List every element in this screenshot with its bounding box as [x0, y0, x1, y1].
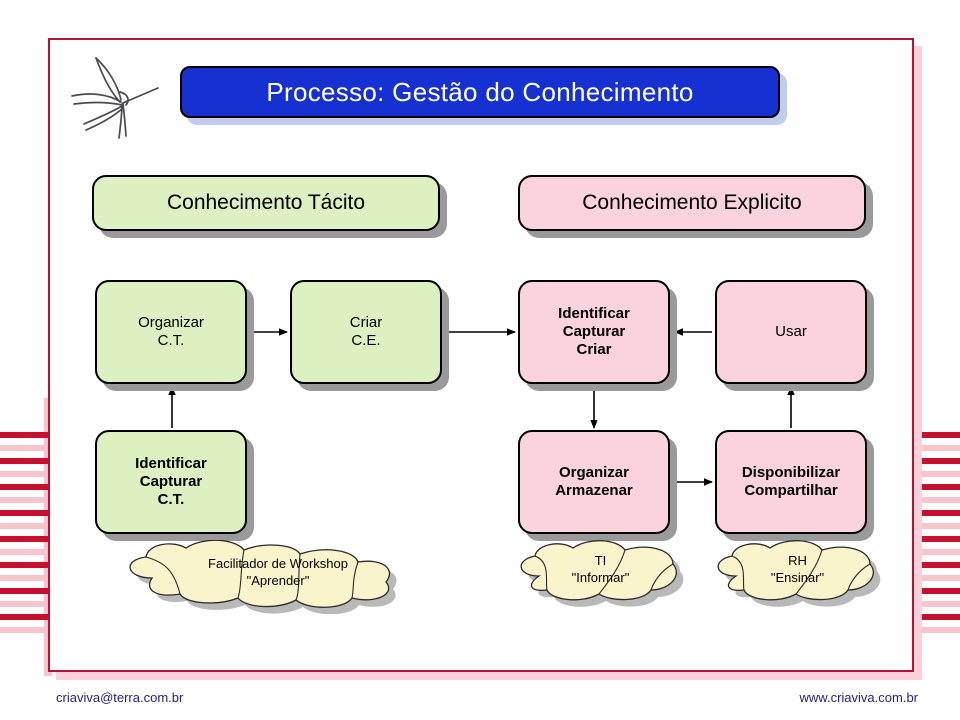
stripe [0, 497, 52, 503]
process-label-organizar-ct: OrganizarC.T. [95, 280, 247, 384]
process-node-identificar-capturar-ct: IdentificarCapturarC.T. [95, 430, 247, 534]
process-node-identificar-capturar-criar: IdentificarCapturarCriar [518, 280, 670, 384]
process-label-disponibilizar-compartilhar: DisponibilizarCompartilhar [715, 430, 867, 534]
process-node-criar-ce: CriarC.E. [290, 280, 442, 384]
slide-title-banner: Processo: Gestão do Conhecimento [180, 66, 780, 118]
process-label-usar: Usar [715, 280, 867, 384]
stripe [0, 588, 52, 594]
stripe [0, 627, 52, 633]
stripe [0, 549, 52, 555]
process-node-organizar-armazenar: OrganizarArmazenar [518, 430, 670, 534]
process-label-identificar-capturar-criar: IdentificarCapturarCriar [518, 280, 670, 384]
stripe [0, 536, 52, 542]
stripe [0, 484, 52, 490]
stripe [0, 614, 52, 620]
header-node-tacito: Conhecimento Tácito [92, 175, 440, 231]
header-node-explicito: Conhecimento Explicito [518, 175, 866, 231]
process-node-organizar-ct: OrganizarC.T. [95, 280, 247, 384]
stripe [0, 445, 52, 451]
pinwheel-flower-logo-icon [62, 48, 162, 144]
cloud-label-workshop-line2: "Aprender" [108, 573, 448, 589]
decorative-stripes-left [0, 432, 52, 637]
process-label-organizar-armazenar: OrganizarArmazenar [518, 430, 670, 534]
process-label-identificar-capturar-ct: IdentificarCapturarC.T. [95, 430, 247, 534]
stripe [0, 510, 52, 516]
process-node-disponibilizar-compartilhar: DisponibilizarCompartilhar [715, 430, 867, 534]
cloud-label-rh-line2: "Ensinar" [710, 570, 885, 586]
stripe [0, 523, 52, 529]
footer-email[interactable]: criaviva@terra.com.br [56, 690, 183, 705]
cloud-label-rh-line1: RH [710, 553, 885, 569]
cloud-ti: TI "Informar" [513, 540, 688, 610]
cloud-label-ti-line2: "Informar" [513, 570, 688, 586]
cloud-rh: RH "Ensinar" [710, 540, 885, 610]
header-label-tacito: Conhecimento Tácito [92, 175, 440, 231]
stripe [0, 575, 52, 581]
cloud-label-ti-line1: TI [513, 553, 688, 569]
process-node-usar: Usar [715, 280, 867, 384]
stripe [0, 471, 52, 477]
cloud-workshop: Facilitador de Workshop "Aprender" [108, 540, 448, 614]
stripe [0, 562, 52, 568]
stripe [0, 601, 52, 607]
process-label-criar-ce: CriarC.E. [290, 280, 442, 384]
page-title: Processo: Gestão do Conhecimento [266, 77, 693, 108]
footer-website[interactable]: www.criaviva.com.br [800, 690, 918, 705]
slide-canvas: Processo: Gestão do Conhecimento Conheci… [0, 0, 960, 720]
stripe [0, 458, 52, 464]
header-label-explicito: Conhecimento Explicito [518, 175, 866, 231]
cloud-label-workshop-line1: Facilitador de Workshop [108, 556, 448, 572]
stripe [0, 432, 52, 438]
